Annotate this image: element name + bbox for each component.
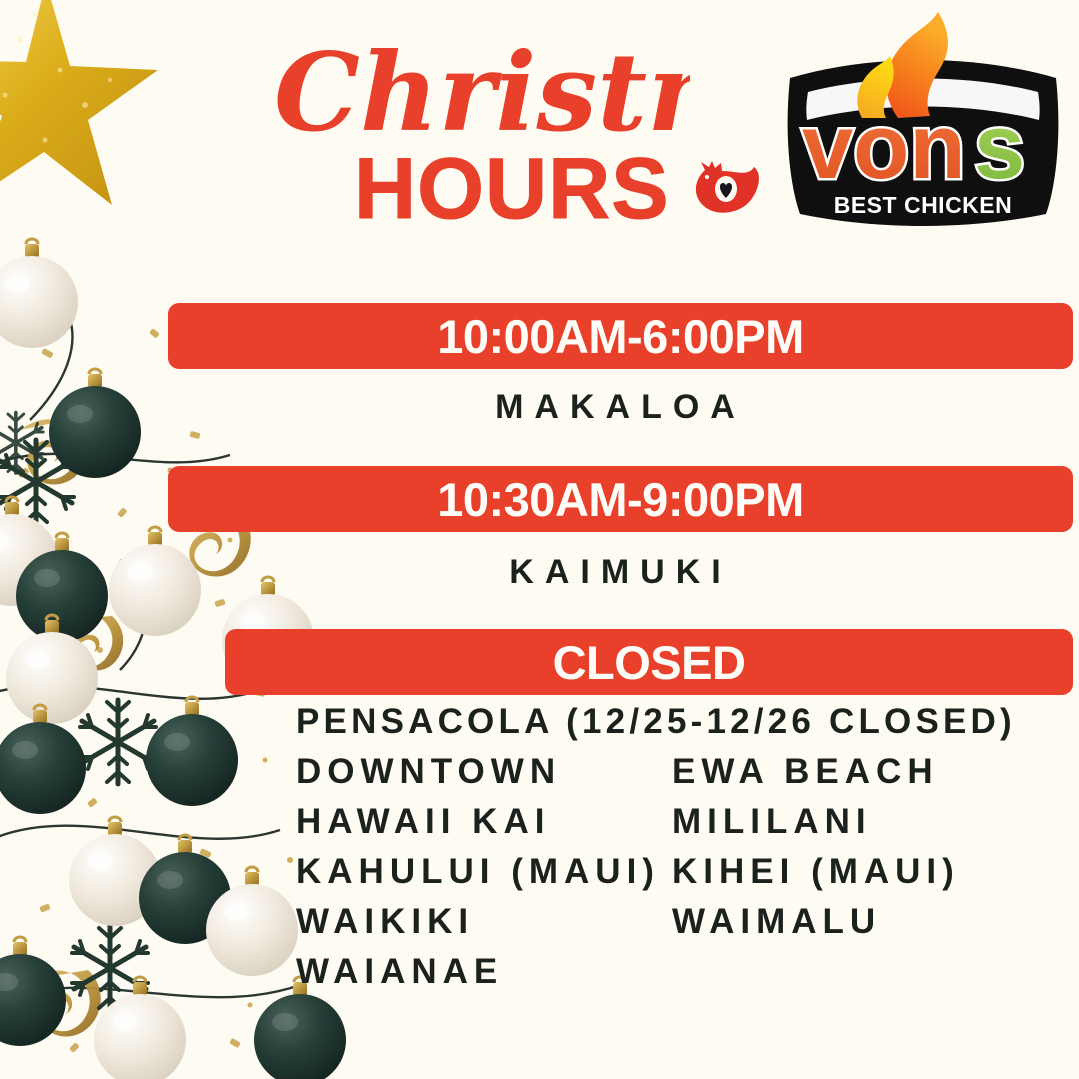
closed-location: WAIMALU bbox=[672, 902, 881, 942]
closed-location: KIHEI (MAUI) bbox=[672, 852, 960, 892]
list-item: WAIANAE bbox=[296, 952, 1076, 1002]
closed-location: MILILANI bbox=[672, 802, 872, 842]
hours-banner-makaloa: 10:00AM-6:00PM bbox=[168, 303, 1073, 369]
list-item: HAWAII KAI MILILANI bbox=[296, 802, 1076, 852]
poster-canvas: Christmas HOURS bbox=[0, 0, 1079, 1079]
closed-location: EWA BEACH bbox=[672, 752, 939, 792]
closed-location: WAIKIKI bbox=[296, 902, 474, 942]
closed-location: HAWAII KAI bbox=[296, 802, 550, 842]
list-item: PENSACOLA (12/25-12/26 CLOSED) bbox=[296, 702, 1076, 752]
closed-locations-list: PENSACOLA (12/25-12/26 CLOSED) DOWNTOWN … bbox=[296, 702, 1076, 1002]
schedule-section: 10:00AM-6:00PM MAKALOA 10:30AM-9:00PM KA… bbox=[0, 0, 1079, 1079]
closed-location: WAIANAE bbox=[296, 952, 503, 992]
store-name-makaloa: MAKALOA bbox=[168, 388, 1073, 427]
closed-location: KAHULUI (MAUI) bbox=[296, 852, 660, 892]
closed-banner: CLOSED bbox=[225, 629, 1073, 695]
closed-location: PENSACOLA (12/25-12/26 CLOSED) bbox=[296, 702, 1016, 742]
list-item: DOWNTOWN EWA BEACH bbox=[296, 752, 1076, 802]
list-item: KAHULUI (MAUI) KIHEI (MAUI) bbox=[296, 852, 1076, 902]
closed-location: DOWNTOWN bbox=[296, 752, 561, 792]
store-name-kaimuki: KAIMUKI bbox=[168, 553, 1073, 592]
hours-banner-kaimuki: 10:30AM-9:00PM bbox=[168, 466, 1073, 532]
list-item: WAIKIKI WAIMALU bbox=[296, 902, 1076, 952]
